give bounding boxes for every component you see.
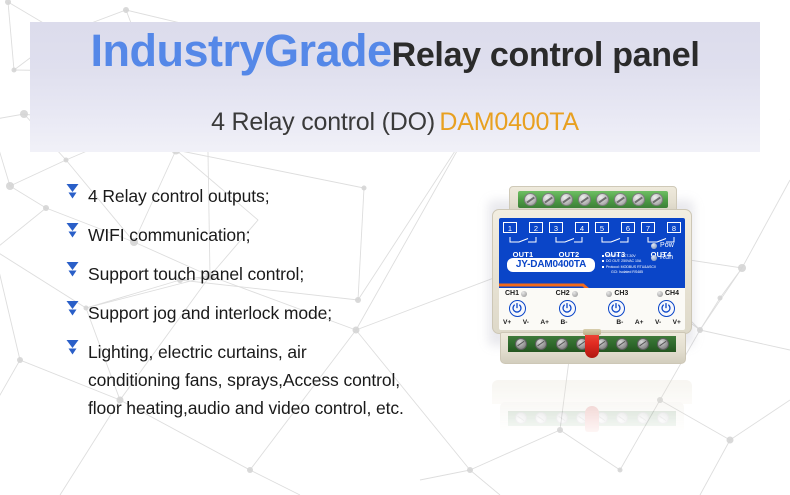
status-led: Run (651, 254, 674, 261)
feature-text: WIFI communication; (88, 221, 250, 249)
feature-text-line: conditioning fans, sprays,Access control… (88, 366, 404, 394)
pin-label: A+ (540, 319, 549, 326)
screw-terminal (556, 413, 568, 425)
output-group: 1 2 OUT1 (503, 222, 543, 259)
spec-text: POWER: DC7-30V (606, 254, 636, 258)
status-led: Pow (651, 242, 674, 249)
touch-button-ch3[interactable] (608, 300, 625, 317)
terminal-numbers: 3 4 (549, 222, 589, 233)
channel-indicator: CH1 (505, 290, 527, 297)
product-device-image: 1 2 OUT1 3 4 (480, 186, 710, 448)
terminal-number: 5 (595, 222, 609, 233)
relay-contact-icon (595, 237, 635, 246)
feature-text-line: Lighting, electric curtains, air (88, 338, 404, 366)
screw-terminal (632, 193, 645, 206)
list-item: Support touch panel control; (66, 260, 476, 289)
title-rest: Relay control panel (392, 38, 700, 72)
terminal-number: 8 (667, 222, 681, 233)
output-group: 3 4 OUT2 (549, 222, 589, 259)
top-terminal-block (518, 191, 668, 208)
led-label: Run (660, 254, 673, 261)
channel-indicator: CH4 (657, 290, 679, 297)
power-led-icon (651, 243, 657, 249)
channel-label: CH3 (614, 290, 628, 297)
led-label: Pow (660, 242, 674, 249)
terminal-number: 6 (621, 222, 635, 233)
feature-list: 4 Relay control outputs; WIFI communicat… (66, 182, 476, 432)
terminal-number: 7 (641, 222, 655, 233)
model-name-badge: JY-DAM0400TA (506, 257, 596, 273)
channel-indicator: CH3 (606, 290, 628, 297)
terminal-numbers: 5 6 (595, 222, 635, 233)
pin-label: V+ (503, 319, 511, 326)
screw-terminal (524, 193, 537, 206)
terminal-numbers: 1 2 (503, 222, 543, 233)
screw-terminal (650, 193, 663, 206)
channel-led-icon (572, 291, 578, 297)
pin-label: V- (655, 319, 661, 326)
run-led-icon (651, 255, 657, 261)
feature-text: 4 Relay control outputs; (88, 182, 269, 210)
channel-led-icon (606, 291, 612, 297)
channel-label: CH4 (665, 290, 679, 297)
terminal-numbers: 7 8 (641, 222, 681, 233)
pin-spacer (579, 319, 605, 326)
terminal-number: 3 (549, 222, 563, 233)
list-item: Lighting, electric curtains, air conditi… (66, 338, 476, 422)
reflection-body (492, 380, 692, 404)
relay-contact-icon (549, 237, 589, 246)
terminal-number: 1 (503, 222, 517, 233)
feature-text: Support jog and interlock mode; (88, 299, 332, 327)
status-led-group: Pow Run (651, 242, 674, 266)
double-chevron-down-icon (66, 339, 88, 367)
list-item: Support jog and interlock mode; (66, 299, 476, 328)
pin-label-row: V+ V- A+ B- B- A+ V- V+ (503, 319, 681, 326)
subtitle-main: 4 Relay control (DO) (211, 108, 435, 136)
pin-label: V- (523, 319, 529, 326)
device-front-face: 1 2 OUT1 3 4 (499, 218, 685, 330)
screw-terminal (535, 338, 547, 350)
product-banner: IndustryGrade Relay control panel 4 Rela… (0, 0, 790, 495)
channel-label: CH2 (556, 290, 570, 297)
screw-terminal (637, 338, 649, 350)
pin-label: A+ (635, 319, 644, 326)
spec-line: GCI: Isolated RS485 (602, 270, 664, 275)
screw-terminal (657, 413, 669, 425)
din-rail-release-clip (585, 332, 599, 358)
channel-label-row: CH1 CH2 CH3 CH4 (505, 290, 679, 297)
screw-terminal (560, 193, 573, 206)
feature-text: Support touch panel control; (88, 260, 304, 288)
pin-label: B- (616, 319, 623, 326)
reflection-din-clip (585, 406, 599, 432)
din-rail-clip-tab (583, 329, 601, 335)
screw-terminal (556, 338, 568, 350)
touch-button-ch2[interactable] (559, 300, 576, 317)
pin-label: B- (561, 319, 568, 326)
feature-text-line: floor heating,audio and video control, e… (88, 394, 404, 422)
touch-button-ch4[interactable] (658, 300, 675, 317)
terminal-number: 2 (529, 222, 543, 233)
screw-terminal (614, 193, 627, 206)
channel-led-icon (657, 291, 663, 297)
channel-indicator: CH2 (556, 290, 578, 297)
double-chevron-down-icon (66, 222, 88, 250)
spec-text: DO OUT: 250VAC 10A (606, 259, 641, 263)
double-chevron-down-icon (66, 300, 88, 328)
screw-terminal (515, 338, 527, 350)
touch-button-ch1[interactable] (509, 300, 526, 317)
subtitle-model: DAM0400TA (439, 108, 578, 136)
screw-terminal (535, 413, 547, 425)
title-brand: IndustryGrade (90, 28, 391, 73)
screw-terminal (616, 338, 628, 350)
channel-led-icon (521, 291, 527, 297)
page-title: IndustryGrade Relay control panel (30, 28, 760, 90)
screw-terminal (637, 413, 649, 425)
feature-text: Lighting, electric curtains, air conditi… (88, 338, 404, 422)
touch-button-row (509, 300, 675, 317)
list-item: WIFI communication; (66, 221, 476, 250)
relay-contact-icon (503, 237, 543, 246)
terminal-number: 4 (575, 222, 589, 233)
spec-text: Protocol: MODBUS RTU&ASCII (606, 265, 656, 269)
screw-terminal (596, 193, 609, 206)
spec-text: GCI: Isolated RS485 (611, 270, 643, 274)
subtitle: 4 Relay control (DO) DAM0400TA (30, 108, 760, 137)
list-item: 4 Relay control outputs; (66, 182, 476, 211)
double-chevron-down-icon (66, 183, 88, 211)
device-reflection (492, 376, 692, 442)
double-chevron-down-icon (66, 261, 88, 289)
screw-terminal (616, 413, 628, 425)
channel-label: CH1 (505, 290, 519, 297)
screw-terminal (515, 413, 527, 425)
screw-terminal (578, 193, 591, 206)
screw-terminal (542, 193, 555, 206)
pin-label: V+ (673, 319, 681, 326)
screw-terminal (657, 338, 669, 350)
